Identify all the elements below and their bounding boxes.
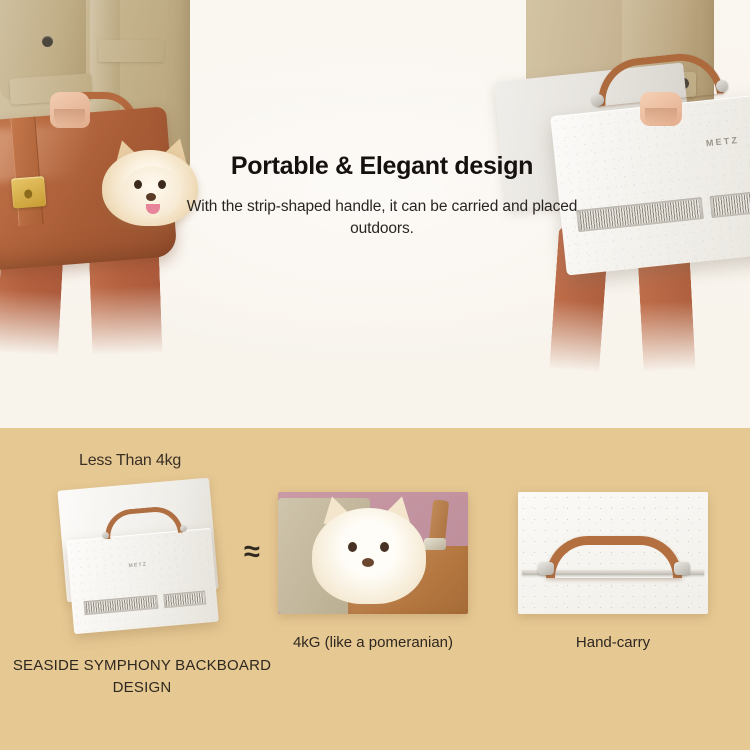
dog-nose: [146, 193, 156, 201]
cuff-button: [42, 36, 53, 47]
product-front-unit: METZ: [66, 528, 219, 634]
photo-pomeranian: [312, 496, 426, 604]
pomeranian-photo-card: [278, 492, 468, 614]
device-speaker-vent-left: [576, 197, 704, 232]
closeup-leather-strap: [546, 536, 682, 578]
device-handle-mount-left: [592, 94, 604, 106]
product-handle-mount-right: [180, 525, 187, 532]
photo-dog-fur: [312, 508, 426, 604]
coat-sleeve: [0, 0, 86, 100]
hero-subtitle: With the strip-shaped handle, it can be …: [186, 196, 578, 240]
approximately-equal-symbol: ≈: [236, 536, 268, 569]
hand-gripping-briefcase: [50, 92, 90, 128]
photo-dog-eye-left: [348, 542, 357, 552]
device-handle-mount-right: [716, 80, 728, 92]
hand-gripping-device-handle: [640, 92, 682, 126]
dog-eye-right: [158, 180, 166, 189]
hero-section: Portable & Elegant design With the strip…: [0, 0, 750, 428]
device-speaker-vent-right: [709, 189, 750, 219]
hand-carry-photo-card: [518, 492, 708, 614]
dog-caption: 4kG (like a pomeranian): [263, 634, 483, 651]
briefcase-strap: [10, 117, 43, 227]
product-handle-mount-left: [102, 532, 109, 539]
photo-dog-eye-right: [380, 542, 389, 552]
product-stack-illustration: METZ: [52, 482, 232, 642]
hero-copy-block: Portable & Elegant design With the strip…: [186, 152, 578, 240]
closeup-strap-mount-right: [674, 562, 690, 575]
coat-pocket-flap: [98, 40, 164, 62]
pomeranian-dog: [102, 134, 198, 226]
hero-headline: Portable & Elegant design: [186, 152, 578, 181]
photo-dog-nose: [362, 558, 374, 567]
product-vent-right: [163, 591, 206, 609]
dog-eye-left: [134, 180, 142, 189]
briefcase-lock-icon: [11, 176, 46, 208]
photo-handbag-clasp: [424, 538, 446, 550]
metz-logo: METZ: [705, 135, 739, 148]
product-vent-left: [84, 595, 159, 615]
closeup-strap-mount-left: [538, 562, 554, 575]
hand-carry-caption: Hand-carry: [518, 634, 708, 651]
product-caption: SEASIDE SYMPHONY BACKBOARD DESIGN: [12, 655, 272, 699]
weight-label: Less Than 4kg: [79, 452, 181, 470]
product-metz-logo: METZ: [128, 562, 147, 570]
